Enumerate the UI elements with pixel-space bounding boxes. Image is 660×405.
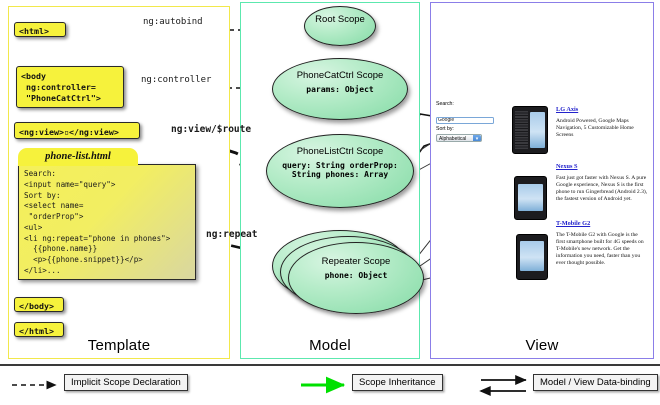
tag-body-close: </body> <box>14 297 64 312</box>
scope-repeater: Repeater Scope phone: Object <box>288 242 424 314</box>
legend: Implicit Scope Declaration Scope Inherit… <box>0 364 660 405</box>
scope-phonelistctrl-name: PhoneListCtrl Scope <box>267 147 413 158</box>
scope-phonecatctrl-name: PhoneCatCtrl Scope <box>273 71 407 82</box>
search-label: Search: <box>436 101 498 108</box>
legend-label-model-view-data-binding: Model / View Data-binding <box>533 374 658 391</box>
panel-model-title: Model <box>241 337 419 354</box>
search-input[interactable] <box>436 117 494 124</box>
label-ng-autobind: ng:autobind <box>143 17 203 27</box>
label-ng-repeat: ng:repeat <box>206 229 257 240</box>
scope-repeater-props: phone: Object <box>289 271 423 281</box>
panel-template-title: Template <box>9 337 229 354</box>
template-callout: phone-list.html Search: <input name="que… <box>18 148 196 288</box>
callout-filename: phone-list.html <box>18 148 138 166</box>
scope-phonelistctrl-props: query: String orderProp: String phones: … <box>267 161 413 180</box>
diagram-canvas: Template Model View <html> <body ng:cont… <box>0 0 660 405</box>
phone-name-link[interactable]: Nexus S <box>556 163 578 170</box>
search-widget: Search: Sort by: Alphabetical ▾ <box>436 101 498 142</box>
tag-body-open: <body ng:controller= "PhoneCatCtrl"> <box>16 66 124 108</box>
legend-label-scope-inheritance: Scope Inheritance <box>352 374 443 391</box>
sort-label: Sort by: <box>436 126 498 133</box>
phone-snippet: Android Powered, Google Maps Navigation,… <box>556 118 648 139</box>
chevron-down-icon: ▾ <box>473 135 481 142</box>
phone-thumbnail-t-mobile-g2 <box>516 234 548 280</box>
legend-label-implicit-scope-declaration: Implicit Scope Declaration <box>64 374 188 391</box>
sort-select[interactable]: Alphabetical ▾ <box>436 134 482 142</box>
scope-phonelistctrl: PhoneListCtrl Scope query: String orderP… <box>266 134 414 208</box>
scope-phonecatctrl-props: params: Object <box>273 85 407 95</box>
callout-code: Search: <input name="query"> Sort by: <s… <box>18 164 196 280</box>
phone-thumbnail-lg-axis <box>512 106 548 154</box>
tag-html-open: <html> <box>14 22 66 37</box>
scope-root: Root Scope <box>304 6 376 46</box>
scope-repeater-name: Repeater Scope <box>289 257 423 268</box>
label-ng-view-route: ng:view/$route <box>171 124 251 135</box>
panel-view-title: View <box>431 337 653 354</box>
phone-name-link[interactable]: LG Axis <box>556 106 578 113</box>
scope-root-name: Root Scope <box>305 15 375 26</box>
sort-select-value: Alphabetical <box>439 136 466 142</box>
phone-thumbnail-nexus-s <box>514 176 547 220</box>
scope-phonecatctrl: PhoneCatCtrl Scope params: Object <box>272 58 408 120</box>
phone-name-link[interactable]: T-Mobile G2 <box>556 220 590 227</box>
phone-snippet: Fast just got faster with Nexus S. A pur… <box>556 175 648 203</box>
label-ng-controller: ng:controller <box>141 75 211 85</box>
tag-html-close: </html> <box>14 322 64 337</box>
phone-snippet: The T-Mobile G2 with Google is the first… <box>556 232 648 267</box>
tag-ng-view: <ng:view>▫</ng:view> <box>14 122 140 139</box>
